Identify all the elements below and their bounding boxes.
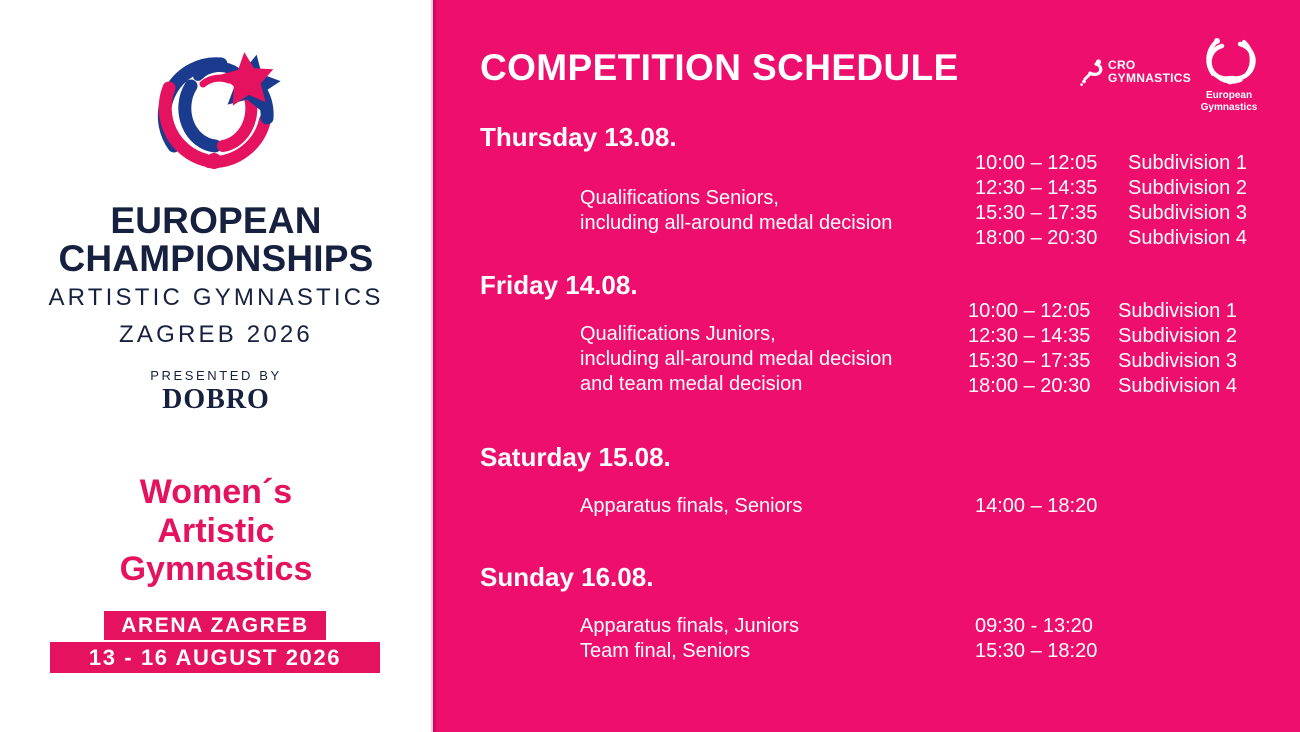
day-heading-sunday: Sunday 16.08. [480, 564, 653, 590]
european-gymnastics-swirl-icon [1200, 34, 1260, 90]
day-heading-saturday: Saturday 15.08. [480, 444, 671, 470]
presented-by-label: PRESENTED BY [0, 369, 432, 382]
european-gymnastics-label: European Gymnastics [1186, 90, 1272, 114]
branding-panel: EUROPEAN CHAMPIONSHIPS ARTISTIC GYMNASTI… [0, 0, 432, 732]
event-name-friday: Qualifications Juniors, including all-ar… [580, 322, 892, 397]
logo-title-line-2: CHAMPIONSHIPS [0, 240, 432, 277]
event-name-thursday: Qualifications Seniors, including all-ar… [580, 186, 892, 236]
logo-location-year: ZAGREB 2026 [0, 323, 432, 347]
logo-title-line-1: EUROPEAN [0, 202, 432, 239]
event-times-saturday: 14:00 – 18:20 [975, 494, 1097, 519]
event-times-thursday: 10:00 – 12:05 12:30 – 14:35 15:30 – 17:3… [975, 151, 1097, 251]
event-subdivisions-thursday: Subdivision 1 Subdivision 2 Subdivision … [1128, 151, 1247, 251]
european-championships-logo-icon [143, 28, 293, 188]
event-name-saturday: Apparatus finals, Seniors [580, 494, 802, 519]
event-subdivisions-friday: Subdivision 1 Subdivision 2 Subdivision … [1118, 299, 1237, 399]
venue-badge: ARENA ZAGREB [104, 611, 326, 640]
event-times-sunday: 09:30 - 13:20 15:30 – 18:20 [975, 614, 1097, 664]
sponsor-name: DOBRO [0, 386, 432, 414]
event-times-friday: 10:00 – 12:05 12:30 – 14:35 15:30 – 17:3… [968, 299, 1090, 399]
page-title: COMPETITION SCHEDULE [480, 49, 959, 86]
discipline-line-3: Gymnastics [0, 552, 432, 586]
schedule-panel: COMPETITION SCHEDULE CRO GYMNASTICS [436, 0, 1300, 732]
gymnast-figure-icon [1080, 58, 1106, 88]
cro-gymnastics-logo: CRO GYMNASTICS [1080, 56, 1200, 90]
cro-gymnastics-label: CRO GYMNASTICS [1108, 59, 1191, 85]
discipline-line-1: Women´s [0, 475, 432, 509]
competition-schedule-poster: EUROPEAN CHAMPIONSHIPS ARTISTIC GYMNASTI… [0, 0, 1300, 732]
logo-subtitle: ARTISTIC GYMNASTICS [0, 286, 432, 310]
day-heading-friday: Friday 14.08. [480, 272, 638, 298]
day-heading-thursday: Thursday 13.08. [480, 124, 677, 150]
event-name-sunday: Apparatus finals, Juniors Team final, Se… [580, 614, 799, 664]
european-gymnastics-logo: European Gymnastics [1186, 34, 1272, 118]
dates-badge: 13 - 16 AUGUST 2026 [50, 642, 380, 673]
discipline-line-2: Artistic [0, 514, 432, 548]
